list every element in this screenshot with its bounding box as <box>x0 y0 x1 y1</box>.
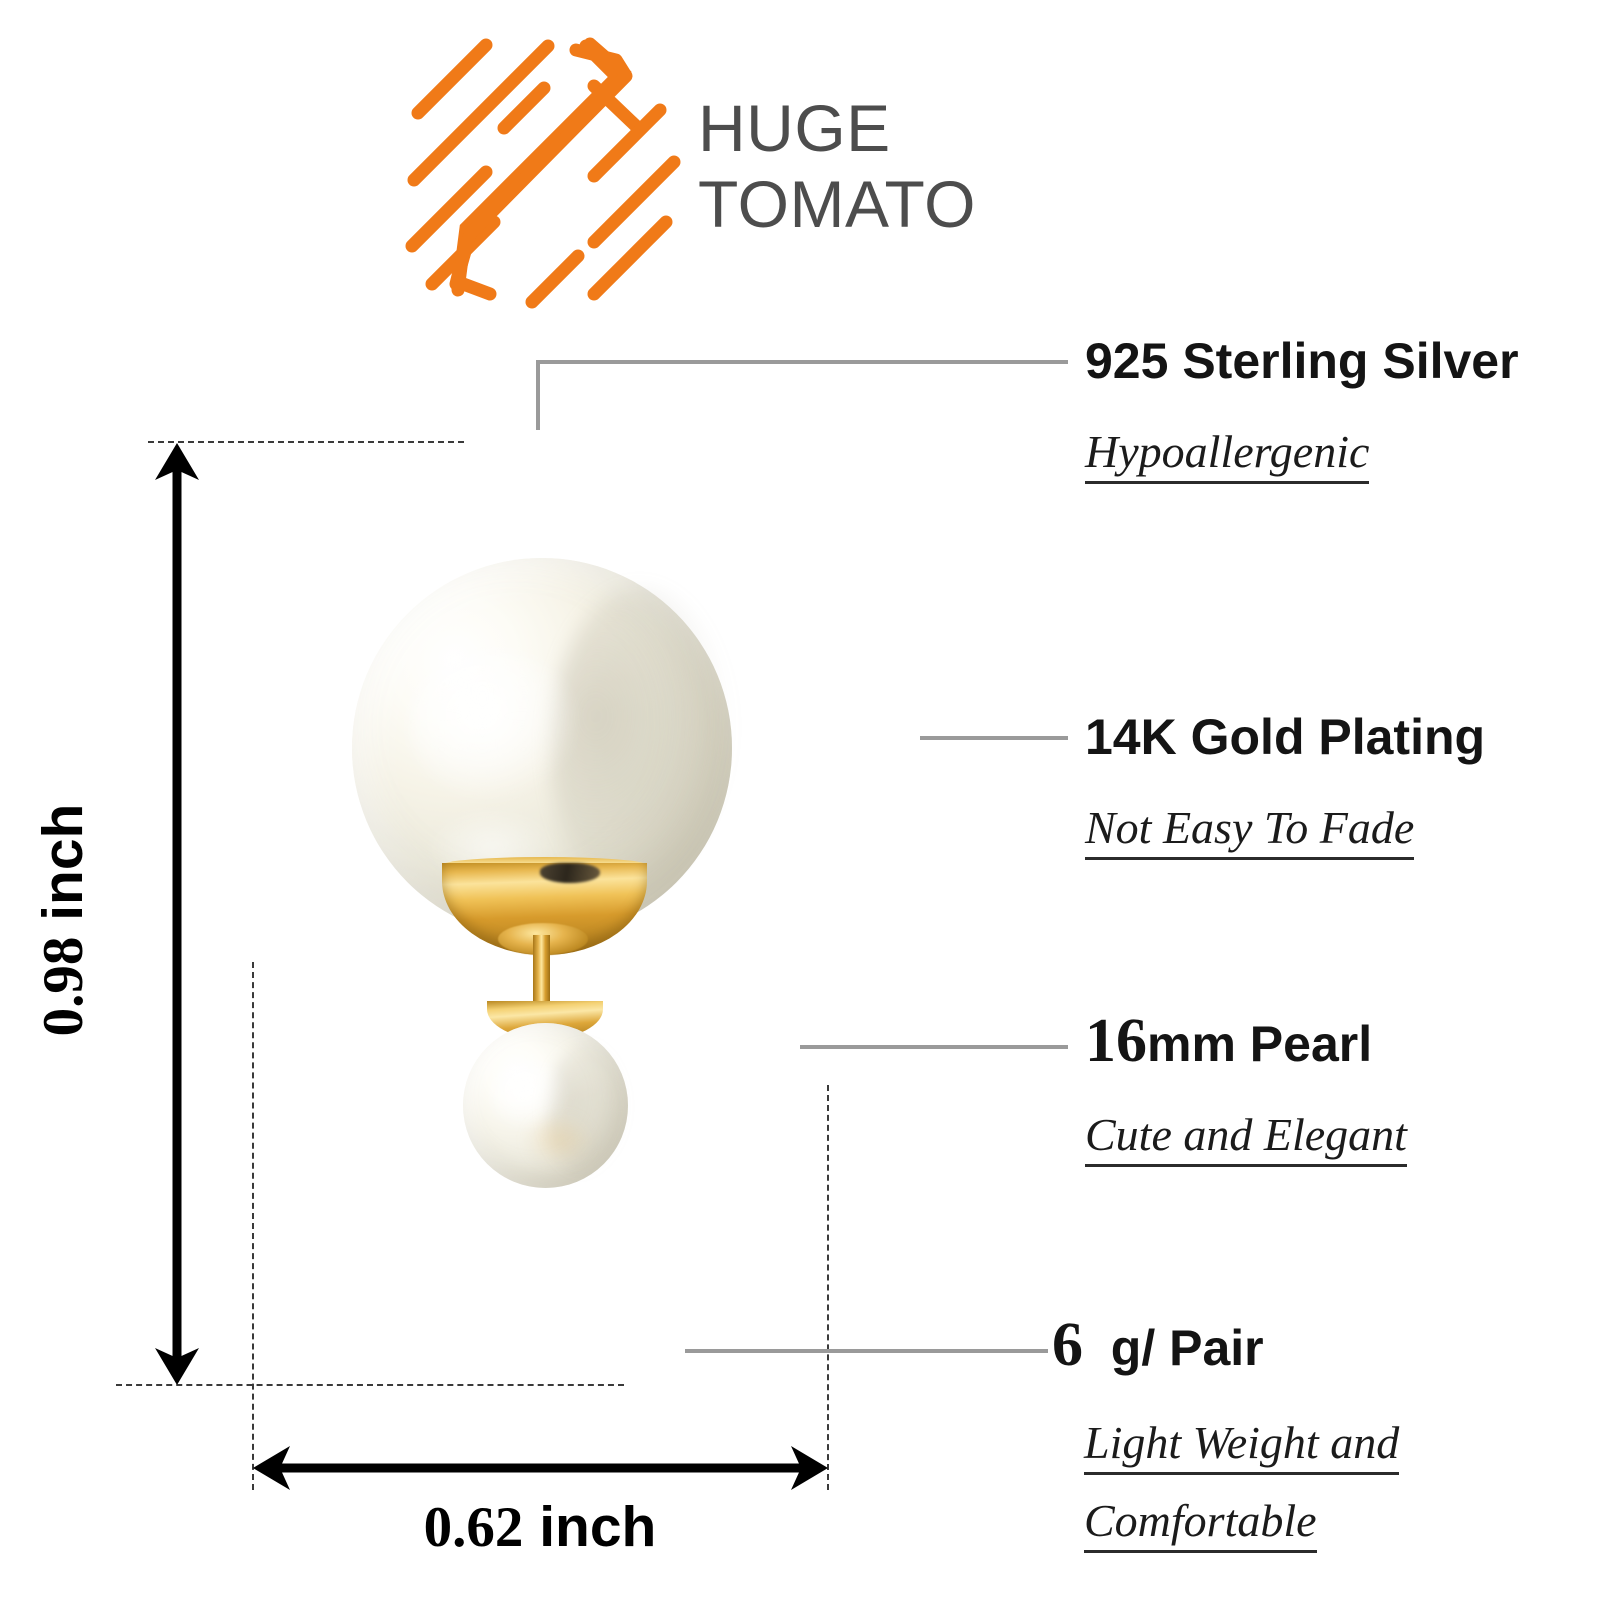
annotation-subtitle-line1: Light Weight and <box>1084 1411 1399 1475</box>
left-width-guide-line <box>252 962 254 1490</box>
annotation-sterling-silver: 925 Sterling Silver Hypoallergenic <box>1085 332 1519 484</box>
width-dimension-label: 0.62 inch <box>340 1494 740 1560</box>
weight-value: 6 <box>1052 1311 1083 1379</box>
annotation-subtitle-text: Cute and Elegant <box>1085 1109 1407 1167</box>
pearl-size-unit: mm Pearl <box>1147 1016 1372 1072</box>
width-value: 0.62 <box>424 1496 524 1559</box>
annotation-title: 925 Sterling Silver <box>1085 332 1519 390</box>
annotation-subtitle-line1-text: Light Weight and <box>1084 1417 1399 1475</box>
product-infographic: HUGE TOMATO <box>0 0 1600 1600</box>
annotation-weight: 6 g/ Pair Light Weight and Comfortable <box>1052 1316 1399 1553</box>
bottom-guide-line <box>116 1384 624 1386</box>
annotation-title: 6 g/ Pair <box>1052 1316 1399 1377</box>
annotation-subtitle: Cute and Elegant <box>1085 1103 1407 1167</box>
width-unit: inch <box>539 1495 656 1559</box>
weight-unit: g/ Pair <box>1111 1320 1264 1376</box>
annotation-pearl-size: 16mm Pearl Cute and Elegant <box>1085 1012 1407 1167</box>
product-image <box>252 443 828 1385</box>
annotation-title: 16mm Pearl <box>1085 1012 1407 1073</box>
annotation-subtitle-line2-text: Comfortable <box>1084 1495 1317 1553</box>
annotation-subtitle-line2: Comfortable <box>1084 1489 1399 1553</box>
height-dimension-arrow <box>155 443 199 1385</box>
diagonal-hatch-mark-icon <box>398 28 688 318</box>
height-value: 0.98 <box>32 937 95 1037</box>
annotation-subtitle-text: Hypoallergenic <box>1085 426 1369 484</box>
annotation-subtitle-text: Not Easy To Fade <box>1085 802 1414 860</box>
annotation-subtitle: Not Easy To Fade <box>1085 796 1485 860</box>
brand-wordmark: HUGE TOMATO <box>698 90 1078 242</box>
gold-cup-detail <box>540 863 600 883</box>
width-dimension-arrow <box>253 1446 828 1490</box>
leader-line-sterling-silver <box>538 362 1068 430</box>
small-pearl <box>463 1023 628 1188</box>
annotation-title: 14K Gold Plating <box>1085 708 1485 766</box>
annotation-gold-plating: 14K Gold Plating Not Easy To Fade <box>1085 708 1485 860</box>
pearl-size-value: 16 <box>1085 1007 1147 1075</box>
right-width-guide-line <box>827 1085 829 1490</box>
height-dimension-label: 0.98 inch <box>30 755 96 1085</box>
height-unit: inch <box>31 804 95 921</box>
brand-logo: HUGE TOMATO <box>398 28 1078 318</box>
small-pearl-warm-reflection <box>526 1115 592 1165</box>
large-pearl-highlight <box>409 649 576 801</box>
annotation-subtitle: Hypoallergenic <box>1085 420 1519 484</box>
top-guide-line <box>148 441 464 443</box>
